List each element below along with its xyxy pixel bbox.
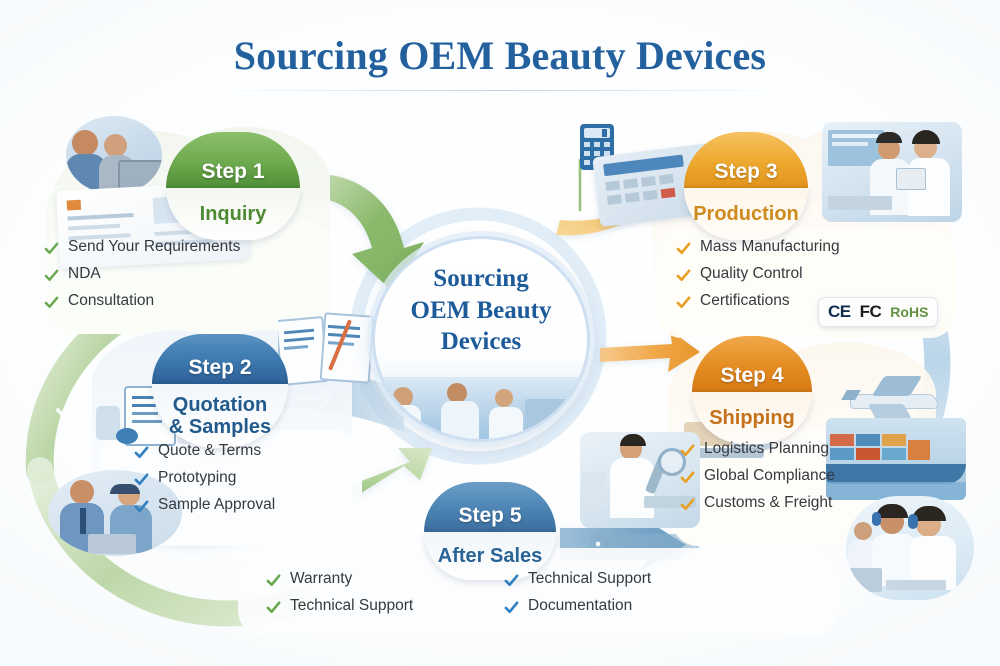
title-divider xyxy=(215,90,785,91)
step-3-bullet: Mass Manufacturing xyxy=(676,238,840,256)
check-icon xyxy=(680,443,695,458)
step-4-number: Step 4 xyxy=(692,364,812,388)
ce-mark: CE xyxy=(828,302,851,322)
step-2-name-line-2: & Samples xyxy=(169,416,271,438)
step-3-number-dome: Step 3 xyxy=(684,132,808,188)
step-2-bullet-list: Quote & Terms Prototyping Sample Approva… xyxy=(134,442,275,523)
step-4-bullet-label: Customs & Freight xyxy=(704,494,832,512)
fcc-mark: FC xyxy=(860,302,882,322)
check-icon xyxy=(134,499,149,514)
step-3-bullet: Certifications xyxy=(676,292,840,310)
step-2-name-line-1: Quotation xyxy=(173,394,267,416)
step-3-bullet-label: Quality Control xyxy=(700,265,803,283)
check-icon xyxy=(134,445,149,460)
step-3-name: Production xyxy=(693,203,799,225)
step-3-bullet-label: Mass Manufacturing xyxy=(700,238,840,256)
step-2-number: Step 2 xyxy=(152,356,288,380)
step-1-number-dome: Step 1 xyxy=(166,132,300,188)
step-3-number: Step 3 xyxy=(684,160,808,184)
check-icon xyxy=(680,470,695,485)
step-4-bullet-label: Global Compliance xyxy=(704,467,835,485)
step-4-bullet-list: Logistics Planning Global Compliance Cus… xyxy=(680,440,835,521)
step-1-bullet-label: Send Your Requirements xyxy=(68,238,240,256)
arrow-to-step4 xyxy=(600,330,700,372)
step-1-name-base: Inquiry xyxy=(166,188,300,240)
step-5-bullet-label: Technical Support xyxy=(528,570,651,588)
center-photo-strip xyxy=(375,377,587,439)
step-2-bullet: Sample Approval xyxy=(134,496,275,514)
step-5-bullet: Documentation xyxy=(504,597,651,615)
step-3-bullet-label: Certifications xyxy=(700,292,790,310)
step-5-bullet: Technical Support xyxy=(266,597,413,615)
step-5-bullet-label: Documentation xyxy=(528,597,632,615)
page-title: Sourcing OEM Beauty Devices xyxy=(0,32,1000,79)
step-2-badge[interactable]: Step 2 Quotation & Samples xyxy=(152,334,288,448)
check-icon xyxy=(676,268,691,283)
center-line-1: Sourcing xyxy=(375,263,587,295)
step-2-bullet: Quote & Terms xyxy=(134,442,275,460)
step-4-number-dome: Step 4 xyxy=(692,336,812,392)
step-4-badge[interactable]: Step 4 Shipping xyxy=(692,336,812,444)
step-4-bullet: Logistics Planning xyxy=(680,440,835,458)
photo-quotation-contracts xyxy=(278,312,374,388)
check-icon xyxy=(504,600,519,615)
step-5-name: After Sales xyxy=(438,545,543,567)
check-icon xyxy=(680,497,695,512)
step-5-bullet: Technical Support xyxy=(504,570,651,588)
infographic-canvas: Sourcing OEM Beauty Devices xyxy=(0,0,1000,666)
center-hub-text: Sourcing OEM Beauty Devices xyxy=(375,263,587,358)
step-3-badge[interactable]: Step 3 Production xyxy=(684,132,808,240)
step-2-bullet-label: Prototyping xyxy=(158,469,236,487)
step-1-bullet-list: Send Your Requirements NDA Consultation xyxy=(44,238,240,319)
step-1-bullet: Send Your Requirements xyxy=(44,238,240,256)
check-icon xyxy=(676,241,691,256)
step-1-bullet-label: NDA xyxy=(68,265,101,283)
step-1-bullet: Consultation xyxy=(44,292,240,310)
check-icon xyxy=(44,295,59,310)
certification-badges: CE FC RoHS xyxy=(818,297,938,327)
step-5-badge[interactable]: Step 5 After Sales xyxy=(424,482,556,580)
step-4-bullet: Customs & Freight xyxy=(680,494,835,512)
photo-shipping-containers xyxy=(826,418,966,500)
photo-after-sales-support-team xyxy=(846,496,974,600)
step-2-bullet-label: Sample Approval xyxy=(158,496,275,514)
center-hub: Sourcing OEM Beauty Devices xyxy=(372,236,590,442)
check-icon xyxy=(676,295,691,310)
step-2-name-base: Quotation & Samples xyxy=(152,384,288,448)
step-5-bullet-list-left: Warranty Technical Support xyxy=(266,570,413,624)
step-5-number-dome: Step 5 xyxy=(424,482,556,532)
step-4-name: Shipping xyxy=(709,407,795,429)
check-icon xyxy=(134,472,149,487)
step-4-bullet-label: Logistics Planning xyxy=(704,440,829,458)
step-1-number: Step 1 xyxy=(166,160,300,184)
step-2-bullet: Prototyping xyxy=(134,469,275,487)
center-line-2: OEM Beauty xyxy=(375,295,587,327)
step-5-bullet-list-right: Technical Support Documentation xyxy=(504,570,651,624)
step-3-bullet: Quality Control xyxy=(676,265,840,283)
photo-shipping-plane xyxy=(838,372,944,424)
check-icon xyxy=(504,573,519,588)
step-3-bullet-list: Mass Manufacturing Quality Control Certi… xyxy=(676,238,840,319)
check-icon xyxy=(266,600,281,615)
photo-production-technicians xyxy=(822,122,962,222)
rohs-mark: RoHS xyxy=(890,304,928,320)
photo-inquiry-team xyxy=(66,116,162,194)
check-icon xyxy=(266,573,281,588)
step-5-bullet-label: Warranty xyxy=(290,570,352,588)
step-1-bullet: NDA xyxy=(44,265,240,283)
check-icon xyxy=(44,268,59,283)
step-1-bullet-label: Consultation xyxy=(68,292,154,310)
step-4-name-base: Shipping xyxy=(692,392,812,444)
step-5-number: Step 5 xyxy=(424,504,556,528)
center-line-3: Devices xyxy=(375,326,587,358)
step-2-number-dome: Step 2 xyxy=(152,334,288,384)
step-3-name-base: Production xyxy=(684,188,808,240)
step-2-bullet-label: Quote & Terms xyxy=(158,442,261,460)
step-5-bullet: Warranty xyxy=(266,570,413,588)
check-icon xyxy=(44,241,59,256)
step-5-bullet-label: Technical Support xyxy=(290,597,413,615)
step-1-badge[interactable]: Step 1 Inquiry xyxy=(166,132,300,240)
step-1-name: Inquiry xyxy=(200,203,267,225)
step-4-bullet: Global Compliance xyxy=(680,467,835,485)
